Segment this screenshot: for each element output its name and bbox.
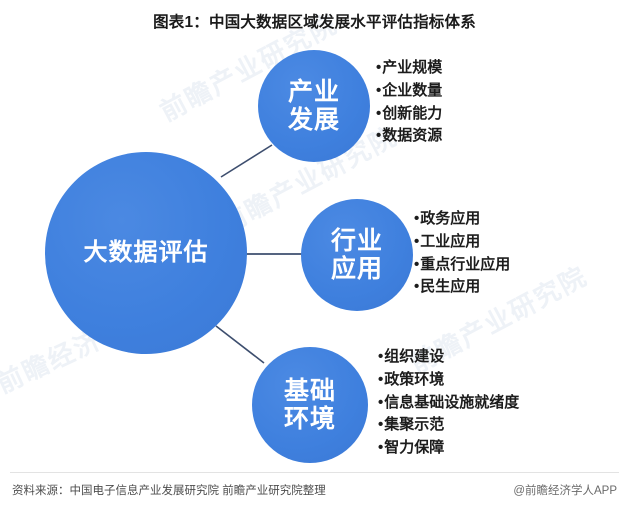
- list-item-label: 智力保障: [384, 439, 444, 456]
- bullet-list-industry-development: •产业规模 •企业数量 •创新能力 •数据资源: [376, 57, 442, 148]
- node-infrastructure-environment-label: 基础 环境: [284, 377, 336, 433]
- list-item: •数据资源: [376, 125, 442, 148]
- list-item: •政策环境: [378, 369, 519, 392]
- list-item: •工业应用: [414, 231, 510, 254]
- list-item-label: 企业数量: [382, 82, 442, 99]
- list-item: •创新能力: [376, 103, 442, 126]
- list-item-label: 产业规模: [382, 59, 442, 76]
- node-infrastructure-environment[interactable]: 基础 环境: [252, 347, 368, 463]
- bullet-dot-icon: •: [376, 105, 381, 122]
- node-center-label: 大数据评估: [84, 240, 209, 267]
- list-item: •重点行业应用: [414, 254, 510, 277]
- node-label-line2: 应用: [331, 255, 383, 283]
- bullet-dot-icon: •: [378, 439, 383, 456]
- bullet-dot-icon: •: [414, 278, 419, 295]
- bullet-dot-icon: •: [414, 210, 419, 227]
- list-item: •信息基础设施就绪度: [378, 392, 519, 415]
- node-industry-application[interactable]: 行业 应用: [301, 199, 413, 311]
- brand-credit: @前瞻经济学人APP: [513, 482, 617, 498]
- bullet-list-industry-application: •政务应用 •工业应用 •重点行业应用 •民生应用: [414, 208, 510, 299]
- list-item: •集聚示范: [378, 414, 519, 437]
- connector-to-infrastructure-environment: [216, 326, 264, 363]
- list-item: •智力保障: [378, 437, 519, 460]
- diagram-canvas: 前瞻产业研究院 前瞻产业研究院 前瞻经济学人 前瞻产业研究院 图表1：中国大数据…: [0, 0, 629, 516]
- node-label-line1: 行业: [331, 227, 383, 255]
- node-industry-development-label: 产业 发展: [288, 78, 340, 134]
- list-item-label: 组织建设: [384, 348, 444, 365]
- node-label-line1: 基础: [284, 377, 336, 405]
- list-item-label: 政务应用: [420, 210, 480, 227]
- list-item-label: 民生应用: [420, 278, 480, 295]
- footer-divider: [10, 472, 619, 473]
- node-label-line2: 发展: [288, 106, 340, 134]
- list-item-label: 数据资源: [382, 127, 442, 144]
- bullet-dot-icon: •: [376, 59, 381, 76]
- bullet-dot-icon: •: [378, 348, 383, 365]
- bullet-list-infrastructure-environment: •组织建设 •政策环境 •信息基础设施就绪度 •集聚示范 •智力保障: [378, 346, 519, 460]
- bullet-dot-icon: •: [378, 394, 383, 411]
- list-item: •政务应用: [414, 208, 510, 231]
- bullet-dot-icon: •: [376, 82, 381, 99]
- list-item: •组织建设: [378, 346, 519, 369]
- bullet-dot-icon: •: [378, 416, 383, 433]
- list-item-label: 信息基础设施就绪度: [384, 394, 519, 411]
- bullet-dot-icon: •: [414, 233, 419, 250]
- list-item: •民生应用: [414, 276, 510, 299]
- list-item-label: 集聚示范: [384, 416, 444, 433]
- list-item: •产业规模: [376, 57, 442, 80]
- list-item-label: 创新能力: [382, 105, 442, 122]
- node-industry-application-label: 行业 应用: [331, 227, 383, 283]
- list-item-label: 重点行业应用: [420, 256, 510, 273]
- list-item: •企业数量: [376, 80, 442, 103]
- bullet-dot-icon: •: [414, 256, 419, 273]
- list-item-label: 政策环境: [384, 371, 444, 388]
- list-item-label: 工业应用: [420, 233, 480, 250]
- node-industry-development[interactable]: 产业 发展: [258, 50, 370, 162]
- bullet-dot-icon: •: [376, 127, 381, 144]
- source-note: 资料来源：中国电子信息产业发展研究院 前瞻产业研究院整理: [12, 482, 326, 498]
- node-label-line1: 产业: [288, 78, 340, 106]
- connector-to-industry-development: [221, 145, 272, 177]
- node-label-line2: 环境: [284, 405, 336, 433]
- node-center[interactable]: 大数据评估: [45, 152, 247, 354]
- bullet-dot-icon: •: [378, 371, 383, 388]
